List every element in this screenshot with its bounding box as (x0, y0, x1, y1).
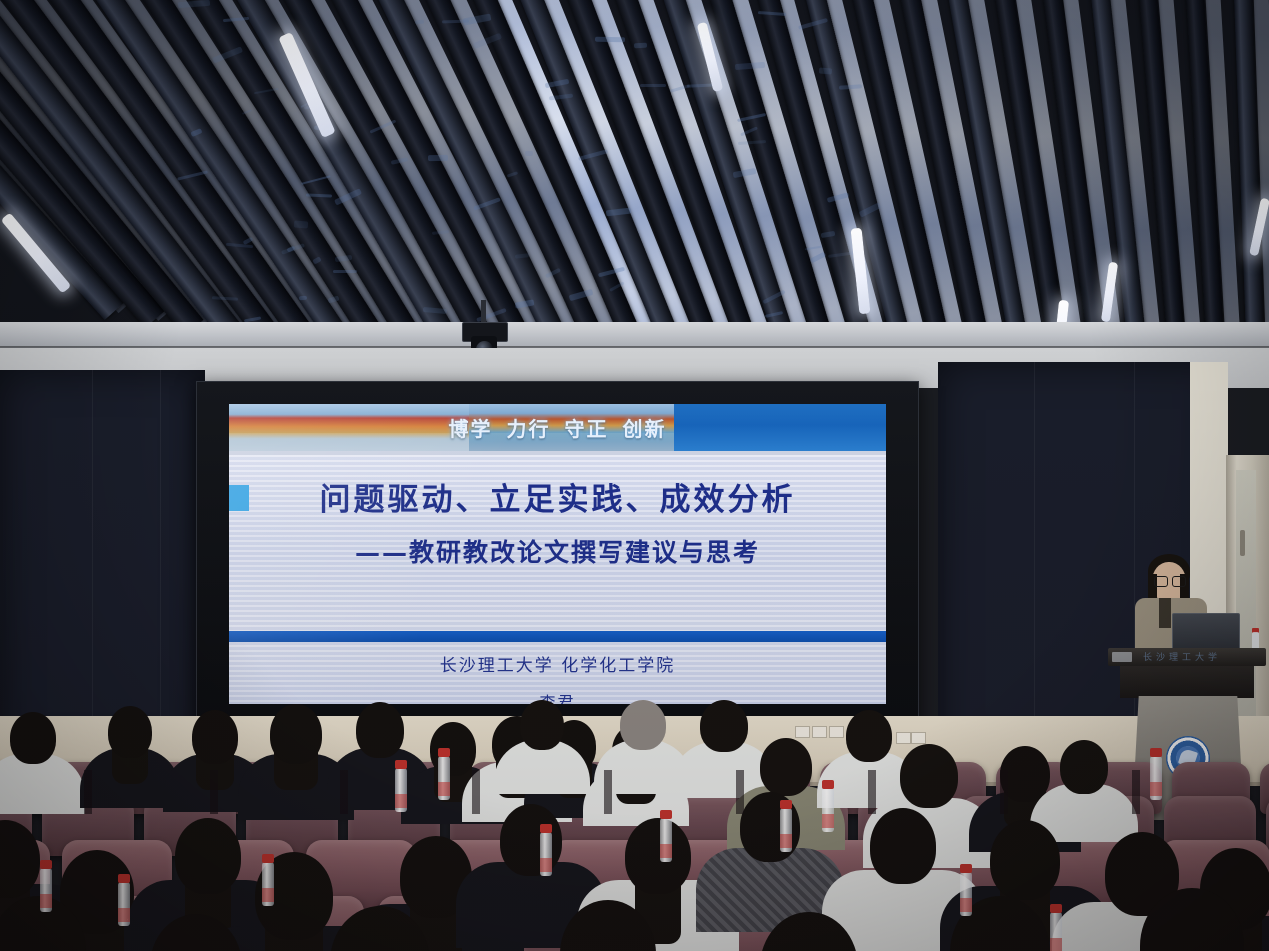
water-bottle-label (1150, 782, 1162, 796)
seat-gap (1132, 770, 1140, 814)
audience-member-head (990, 820, 1060, 900)
projection-screen-bezel: 博学 力行 守正 创新 问题驱动、立足实践、成效分析 ——教研教改论文撰写建议与… (196, 381, 919, 728)
ceiling-reflection-speck (819, 67, 833, 74)
glasses-icon (1154, 576, 1184, 585)
water-bottle-label (395, 794, 407, 808)
projector-mount-arm (481, 300, 486, 324)
audience-member-head (625, 818, 691, 894)
motto-word-1: 博学 (449, 413, 493, 442)
audience-member-head (270, 704, 322, 764)
slide-subtitle: ——教研教改论文撰写建议与思考 (229, 533, 886, 569)
slide-title-block: 问题驱动、立足实践、成效分析 ——教研教改论文撰写建议与思考 (229, 483, 886, 569)
water-bottle-cap (660, 810, 672, 819)
slide-divider-bar (229, 631, 886, 642)
audience-area (0, 700, 1269, 951)
slide-footer: 长沙理工大学 化学化工学院 李君 2024年5月21日 (229, 651, 886, 704)
ceiling-reflection-speck (442, 19, 469, 23)
seat-gap (84, 770, 92, 814)
audience-member-head (108, 706, 152, 758)
seat-gap (604, 770, 612, 814)
audience-member-head (870, 808, 936, 884)
water-bottle-cap (262, 854, 274, 863)
water-bottle-cap (1050, 904, 1062, 913)
seat-gap (340, 770, 348, 814)
water-bottle-label (960, 898, 972, 912)
ceiling-soffit (0, 322, 1269, 348)
audience-member-head (846, 710, 892, 762)
speaker-scarf (1159, 598, 1171, 628)
university-motto: 博学 力行 守正 创新 (229, 404, 886, 451)
water-bottle-cap (822, 780, 834, 789)
ceiling-reflection-speck (333, 270, 357, 273)
ceiling-reflection-speck (640, 84, 666, 87)
text-cursor-highlight (229, 485, 249, 511)
water-bottle-label (1050, 938, 1062, 951)
water-bottle-cap (395, 760, 407, 769)
audience-member-head (760, 738, 812, 796)
motto-word-2: 力行 (507, 413, 551, 442)
ceiling-reflection-speck (634, 43, 647, 48)
podium-mid-band (1120, 666, 1254, 698)
audience-member-head (430, 722, 476, 776)
slide-organization: 长沙理工大学 化学化工学院 (229, 651, 886, 676)
motto-word-3: 守正 (565, 413, 609, 442)
motto-word-4: 创新 (623, 413, 667, 442)
water-bottle-label (118, 908, 130, 922)
water-bottle-cap (118, 874, 130, 883)
water-bottle-label (262, 888, 274, 902)
water-bottle-label (40, 894, 52, 908)
ceiling-reflection-speck (428, 155, 448, 161)
seat-gap (210, 770, 218, 814)
audience-member-head (700, 700, 748, 752)
water-bottle-cap (40, 860, 52, 869)
seat-gap (736, 770, 744, 814)
water-bottle-label (780, 834, 792, 848)
water-bottle-label (540, 858, 552, 872)
water-bottle-label (822, 814, 834, 828)
audience-member-head (520, 700, 564, 750)
slide-body: 问题驱动、立足实践、成效分析 ——教研教改论文撰写建议与思考 长沙理工大学 化学… (229, 455, 886, 704)
audience-member-head (900, 744, 958, 808)
seat-gap (472, 770, 480, 814)
baffle-ceiling (0, 0, 1269, 335)
podium-laptop[interactable] (1172, 613, 1240, 653)
podium-nameplate: 长沙理工大学 (1122, 650, 1242, 662)
slide-banner: 博学 力行 守正 创新 (229, 404, 886, 451)
water-bottle-label (660, 844, 672, 858)
audience-member-head (10, 712, 56, 764)
audience-member-head (500, 804, 562, 876)
seat-gap (868, 770, 876, 814)
projection-screen-surface: 博学 力行 守正 创新 问题驱动、立足实践、成效分析 ——教研教改论文撰写建议与… (229, 404, 886, 704)
seat-gap (1000, 770, 1008, 814)
ceiling-reflection-speck (525, 151, 533, 157)
audience-member-head (175, 818, 241, 894)
ceiling-reflection-speck (294, 220, 309, 228)
water-bottle-cap (960, 864, 972, 873)
water-bottle-cap (540, 824, 552, 833)
audience-member-head (1060, 740, 1108, 794)
water-bottle-label (438, 782, 450, 796)
slide-title: 问题驱动、立足实践、成效分析 (320, 483, 796, 517)
audience-member-head (620, 700, 666, 750)
water-bottle-cap (438, 748, 450, 757)
lecture-hall-photo: 博学 力行 守正 创新 问题驱动、立足实践、成效分析 ——教研教改论文撰写建议与… (0, 0, 1269, 951)
audience-member-head (192, 710, 238, 764)
water-bottle-cap (780, 800, 792, 809)
water-bottle-cap (1150, 748, 1162, 757)
audience-member-head (356, 702, 404, 758)
